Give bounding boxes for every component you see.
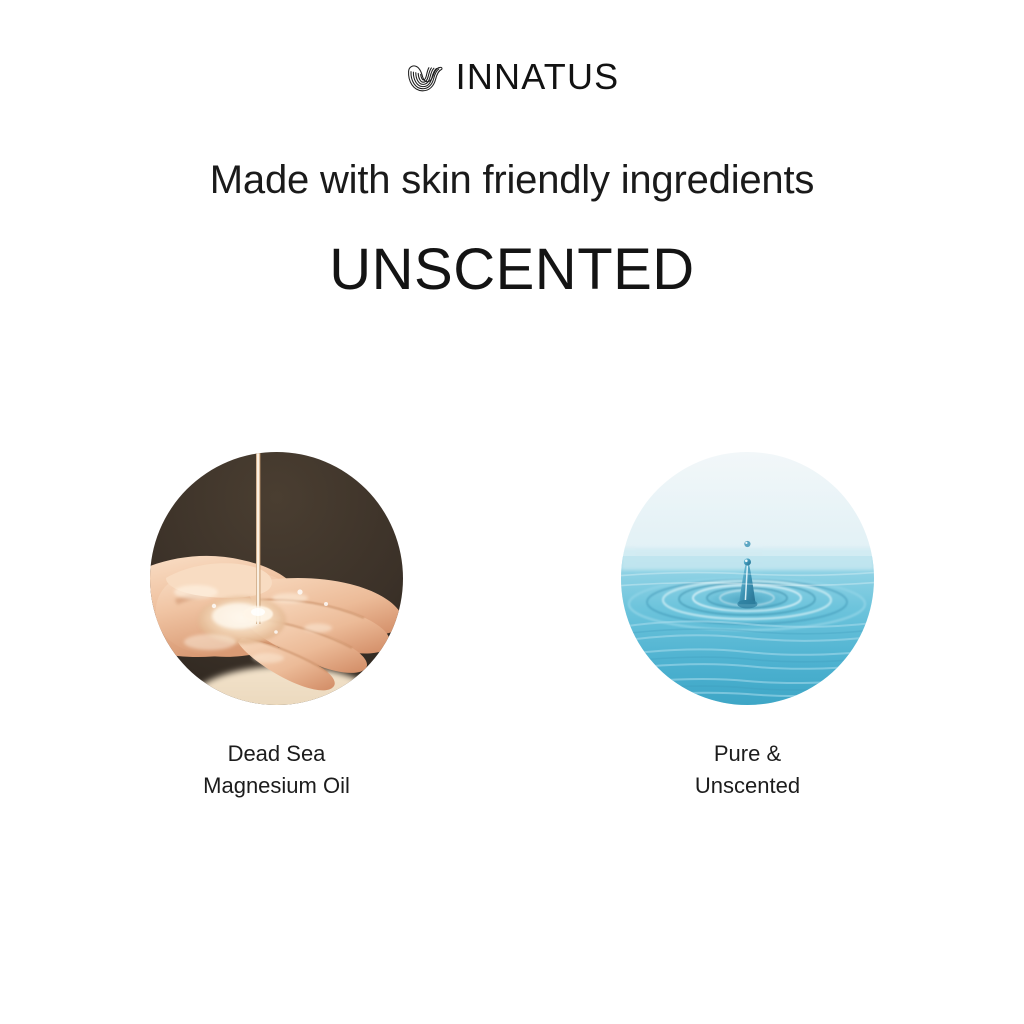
oil-poured-into-cupped-hands-photo [150, 452, 403, 705]
feature-item: Pure & Unscented [621, 452, 875, 802]
feature-caption: Pure & Unscented [695, 738, 800, 802]
water-droplet-ripple-photo [621, 452, 874, 705]
wave-shell-mark-icon [405, 58, 445, 98]
brand-lockup: INNATUS [0, 50, 1024, 104]
feature-caption: Dead Sea Magnesium Oil [203, 738, 350, 802]
page-title: Made with skin friendly ingredients [0, 157, 1024, 203]
feature-item: Dead Sea Magnesium Oil [150, 452, 404, 802]
page-subtitle: UNSCENTED [0, 238, 1024, 302]
brand-name: INNATUS [456, 59, 620, 95]
feature-row: Dead Sea Magnesium Oil [0, 452, 1024, 802]
